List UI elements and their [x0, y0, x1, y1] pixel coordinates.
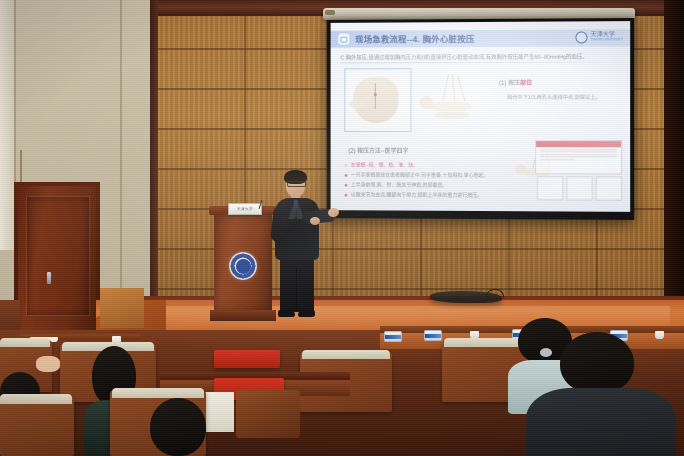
slide-section2-title: (2) 按压方法--医学四字 [348, 146, 408, 155]
bullet-marker: ◆ [344, 182, 347, 188]
rescuer-arm-line [458, 76, 466, 101]
slide-section1-body: 胸骨中下1/3,两乳头连线中点,剑突以上。 [507, 94, 601, 101]
bullet-marker: ◆ [344, 192, 347, 198]
camera-icon [338, 34, 349, 45]
slide-procedure-table [535, 140, 622, 174]
nameplate-text: 天津大学 [237, 207, 253, 212]
screen-roller-cap [325, 10, 335, 15]
seat-headrest [112, 388, 204, 398]
university-seal-icon [575, 31, 587, 43]
slide-header-band: 现场急救流程--4. 胸外心脏按压 天津大学 TIANJIN UNIVERSIT… [331, 29, 631, 47]
wall-joint [20, 150, 22, 184]
section1-label: (1) 按压 [499, 81, 520, 87]
anatomy-illustration-framed [344, 68, 411, 132]
seal-inner [236, 259, 251, 274]
wall-left-return [0, 0, 14, 250]
bullet-text: 上半身前倾,肩、肘、腕关节伸直,肘部垂直。 [351, 181, 448, 188]
bullet-text: 以髋关节为支点,腰部向下用力,借助上半身的重力进行按压。 [351, 191, 483, 199]
seat-arm [236, 390, 300, 438]
slide-bullet: ◆ 以髋关节为支点,腰部向下用力,借助上半身的重力进行按压。 [344, 191, 482, 199]
seat-headrest [302, 350, 390, 359]
paper-cup [655, 331, 664, 339]
slide-diagram-row [537, 176, 622, 201]
person-head [560, 332, 634, 394]
section1-highlight: 部位 [520, 81, 532, 87]
slide-bullet: ◆ 上半身前倾,肩、肘、腕关节伸直,肘部垂直。 [344, 181, 447, 188]
bullet-text: 一只手掌根部放在患者胸部正中,另手重叠,十指相扣,掌心翘起。 [351, 172, 489, 179]
presenter-shoe [278, 310, 295, 317]
podium-nameplate: 天津大学 [228, 203, 262, 215]
water-bottle [424, 330, 442, 341]
person-shoulders [526, 388, 676, 456]
slide-bullet: ◇ 左掌根--轻、慢、稳、准、快。 [344, 162, 418, 169]
slide-divider [340, 61, 626, 63]
water-bottle [384, 331, 402, 342]
diagram-cell [566, 176, 592, 200]
arm-illustration [349, 99, 365, 109]
table-row [540, 149, 617, 150]
seat-headrest [0, 394, 72, 404]
projection-screen: 现场急救流程--4. 胸外心脏按压 天津大学 TIANJIN UNIVERSIT… [327, 18, 635, 220]
bag-strap [486, 289, 504, 297]
person-hand [36, 356, 60, 372]
podium: 天津大学 [212, 206, 274, 321]
table-header-band [536, 141, 621, 147]
slide-bullet: ◆ 一只手掌根部放在患者胸部正中,另手重叠,十指相扣,掌心翘起。 [344, 172, 488, 179]
bullet-marker: ◆ [344, 172, 347, 178]
table-row [540, 157, 617, 158]
diagram-cell [537, 176, 563, 200]
cpr-illustration [415, 72, 489, 134]
presenter-leg-split [296, 268, 297, 312]
logo-sub: TIANJIN UNIVERSITY [591, 39, 624, 42]
table-row [540, 159, 574, 160]
seat-headrest [0, 338, 50, 347]
presenter-shoe [298, 310, 315, 317]
presenter [266, 170, 338, 322]
slide-university-logo: 天津大学 TIANJIN UNIVERSITY [575, 31, 623, 43]
presenter-left-hand [310, 217, 320, 225]
right-wall-shadow [664, 0, 684, 340]
door-handle-icon[interactable] [47, 272, 51, 284]
slide-section1-title: (1) 按压部位 [499, 78, 532, 87]
patient-legs-illustration [435, 112, 469, 119]
table-row [540, 151, 617, 152]
lecture-hall-photo: 现场急救流程--4. 胸外心脏按压 天津大学 TIANJIN UNIVERSIT… [0, 0, 684, 456]
glasses-icon [287, 181, 306, 187]
slide-title: 现场急救流程--4. 胸外心脏按压 [355, 33, 474, 46]
presenter-right-hand [327, 207, 339, 217]
slide-subline: C 胸外按压,是通过增加胸内压力和(或)直接挤压心脏驱动血流,有效胸外按压能产生… [340, 52, 626, 61]
audience-seat[interactable] [0, 396, 74, 456]
hair-tie-icon [540, 348, 552, 357]
compression-point-marker [374, 93, 376, 95]
cornice-left-edge [150, 0, 158, 340]
patient-body-illustration [431, 102, 471, 111]
diagram-cell [596, 176, 622, 200]
sternum-line-icon [375, 83, 376, 109]
rescuer-arm-line [452, 74, 456, 102]
wall-seam [120, 0, 122, 300]
rescuer-arm-line [442, 74, 449, 102]
table-row [540, 154, 617, 155]
side-cabinet [100, 288, 144, 328]
bullet-text: 左掌根--轻、慢、稳、准、快。 [351, 162, 418, 169]
door-panel [26, 196, 90, 316]
seat-cushion [214, 350, 280, 368]
slide-surface: 现场急救流程--4. 胸外心脏按压 天津大学 TIANJIN UNIVERSIT… [331, 21, 631, 212]
bullet-marker: ◇ [344, 162, 347, 168]
person-head [150, 398, 206, 456]
